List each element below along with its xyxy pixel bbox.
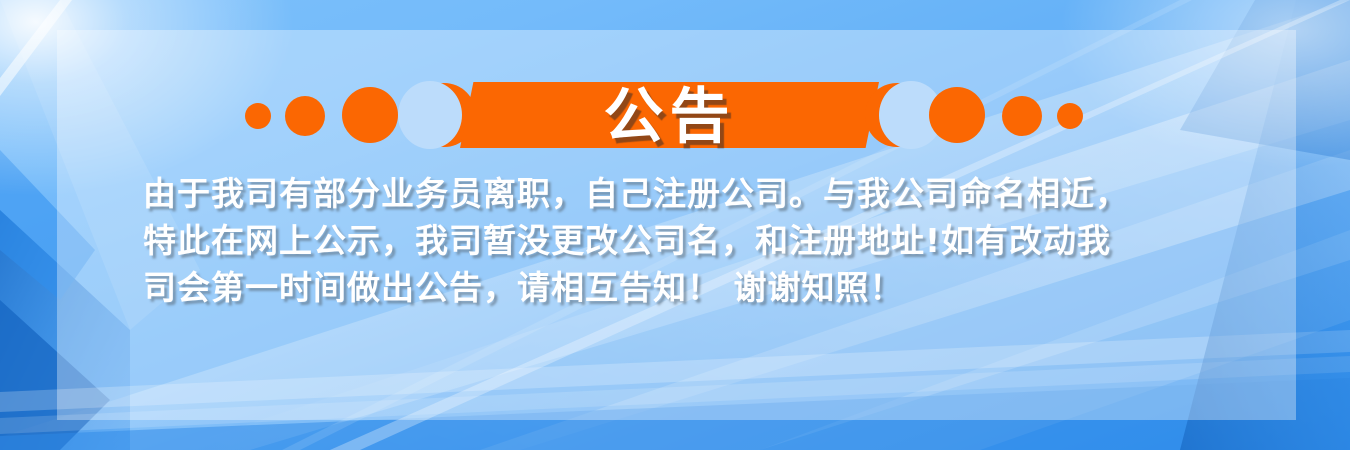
announcement-line-2: 特此在网上公示，我司暂没更改公司名，和注册地址!如有改动我 xyxy=(143,217,1233,264)
announcement-line-3: 司会第一时间做出公告，请相互告知！ 谢谢知照！ xyxy=(143,264,1233,311)
right-medium-dot-icon xyxy=(1002,96,1042,136)
header-ribbon-group: 公告 xyxy=(57,52,1296,152)
content-panel: 公告 由于我司有部分业务员离职，自己注册公司。与我公司命名相近， 特此在网上公示… xyxy=(57,30,1296,420)
left-small-dot-icon xyxy=(245,103,271,129)
banner-title: 公告 xyxy=(460,78,879,156)
right-small-dot-icon xyxy=(1057,103,1083,129)
announcement-line-1: 由于我司有部分业务员离职，自己注册公司。与我公司命名相近， xyxy=(143,170,1233,217)
left-large-dot-icon xyxy=(342,87,398,143)
right-large-dot-icon xyxy=(929,87,985,143)
announcement-banner: 公告 由于我司有部分业务员离职，自己注册公司。与我公司命名相近， 特此在网上公示… xyxy=(0,0,1350,450)
left-medium-dot-icon xyxy=(285,96,325,136)
announcement-body: 由于我司有部分业务员离职，自己注册公司。与我公司命名相近， 特此在网上公示，我司… xyxy=(143,170,1233,311)
